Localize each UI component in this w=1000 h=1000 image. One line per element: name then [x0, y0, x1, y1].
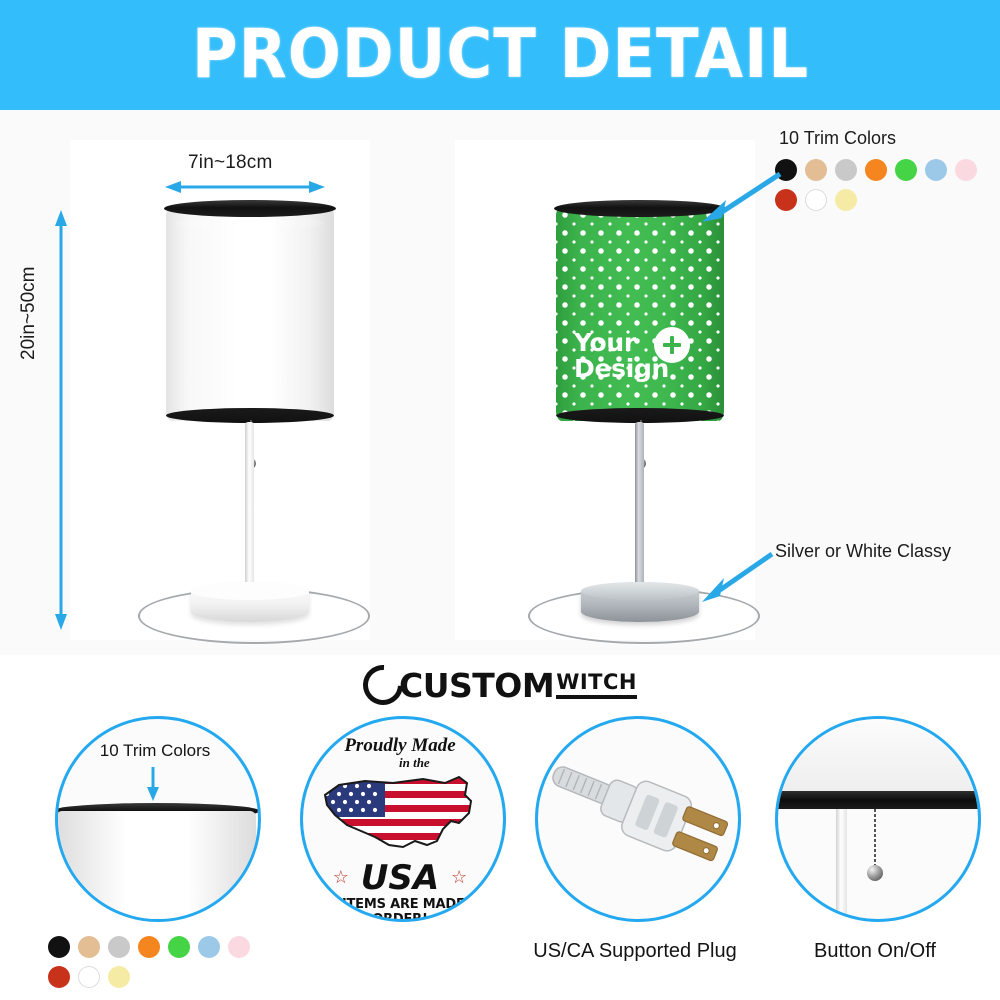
- classy-callout-arrow: [700, 548, 780, 604]
- green-lampshade: Your Design: [556, 206, 724, 421]
- bottom-trim-color-swatches[interactable]: [48, 936, 272, 988]
- swatch-pink[interactable]: [228, 936, 250, 958]
- product-detail-infographic: PRODUCT DETAIL 7in~18cm 20in~50cm: [0, 0, 1000, 1000]
- feature-made-in-usa: Proudly Made in the: [275, 712, 525, 1000]
- lampshade-closeup: [775, 716, 981, 797]
- trim-bar-closeup: [775, 791, 981, 809]
- trim-colors-panel: 10 Trim Colors: [775, 128, 1000, 211]
- plug-circle: [535, 716, 741, 922]
- trim-colors-circle: 10 Trim Colors: [55, 716, 261, 922]
- swatch-light-blue[interactable]: [198, 936, 220, 958]
- white-lamp-top-trim: [164, 200, 336, 217]
- brand-logo: CUSTOM WITCH: [0, 662, 1000, 708]
- swatch-light-blue[interactable]: [925, 159, 947, 181]
- pull-chain-ball-closeup[interactable]: [867, 865, 883, 881]
- swatch-green[interactable]: [895, 159, 917, 181]
- usa-badge-title: Proudly Made: [303, 735, 497, 757]
- logo-primary-text: CUSTOM: [399, 669, 554, 702]
- swatch-tan[interactable]: [78, 936, 100, 958]
- swatch-white[interactable]: [805, 189, 827, 211]
- swatch-gray[interactable]: [108, 936, 130, 958]
- design-line-2: Design: [574, 356, 704, 382]
- plus-icon[interactable]: [654, 327, 690, 363]
- page-title: PRODUCT DETAIL: [191, 21, 808, 89]
- lamp-pole-closeup: [836, 809, 847, 919]
- classy-callout-label: Silver or White Classy: [775, 541, 951, 562]
- white-lamp-base: [191, 582, 309, 622]
- swatch-gray[interactable]: [835, 159, 857, 181]
- logo-secondary-block: WITCH: [556, 672, 637, 699]
- usa-badge-country: ☆ USA ☆: [303, 861, 497, 895]
- trim-color-swatch-grid[interactable]: [775, 159, 999, 211]
- silver-lamp-base: [581, 582, 699, 622]
- swatch-white[interactable]: [78, 966, 100, 988]
- logo-secondary-text: WITCH: [556, 672, 637, 693]
- swatch-black[interactable]: [48, 936, 70, 958]
- trim-colors-inner-label: 10 Trim Colors: [58, 741, 252, 761]
- pull-chain-closeup[interactable]: [874, 809, 876, 867]
- your-design-placeholder: Your Design: [574, 330, 704, 381]
- swatch-pink[interactable]: [955, 159, 977, 181]
- button-onoff-circle: [775, 716, 981, 922]
- shade-highlight: [176, 216, 324, 230]
- swatch-yellow[interactable]: [835, 189, 857, 211]
- trim-colors-arrow: [700, 168, 790, 224]
- feature-button-onoff: Button On/Off: [750, 712, 1000, 1000]
- logo-underline: [556, 695, 637, 699]
- plug-caption: US/CA Supported Plug: [510, 940, 760, 963]
- star-icon-left: ☆: [333, 867, 349, 888]
- made-in-usa-circle: Proudly Made in the: [300, 716, 506, 922]
- trim-colors-down-arrow: [146, 767, 160, 801]
- usa-badge-footer: ALL ITEMS ARE MADE TO ORDER!: [303, 897, 497, 922]
- swatch-tan[interactable]: [805, 159, 827, 181]
- white-table-lamp: [160, 200, 340, 640]
- height-dimension-arrow: [54, 210, 68, 630]
- usa-badge-subtitle: in the: [399, 755, 430, 771]
- trim-colors-label: 10 Trim Colors: [779, 128, 1000, 149]
- star-icon-right: ☆: [451, 867, 467, 888]
- width-dimension-label: 7in~18cm: [188, 152, 273, 174]
- swatch-green[interactable]: [168, 936, 190, 958]
- header-banner: PRODUCT DETAIL: [0, 0, 1000, 110]
- lampshade-body-closeup: [56, 811, 256, 922]
- swatch-orange[interactable]: [138, 936, 160, 958]
- swatch-yellow[interactable]: [108, 966, 130, 988]
- usa-map-flag-icon: [319, 771, 481, 863]
- power-plug-icon: [538, 719, 732, 913]
- height-dimension-label: 20in~50cm: [18, 267, 40, 360]
- white-lampshade: [166, 206, 334, 421]
- width-dimension-arrow: [165, 180, 325, 194]
- swatch-red[interactable]: [48, 966, 70, 988]
- feature-plug: US/CA Supported Plug: [510, 712, 760, 1000]
- swatch-orange[interactable]: [865, 159, 887, 181]
- usa-country-text: USA: [361, 858, 439, 898]
- button-onoff-caption: Button On/Off: [750, 940, 1000, 963]
